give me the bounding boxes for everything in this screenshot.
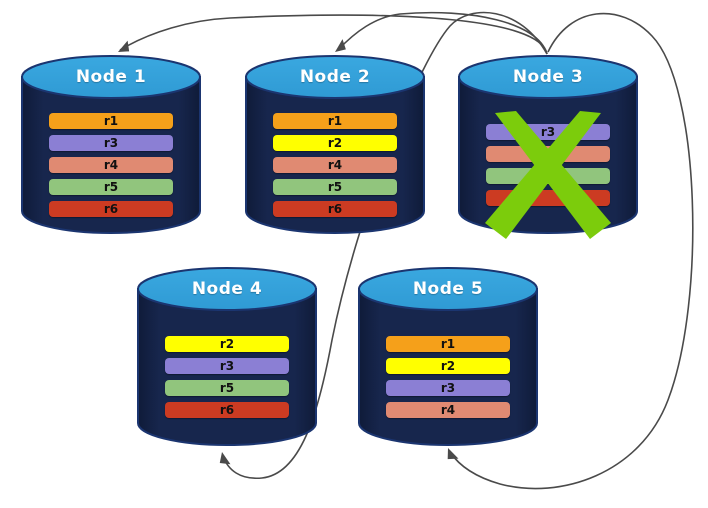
node-row-list: r1r3r4r5r6 (21, 113, 201, 223)
node-row-list: r1r2r4r5r6 (245, 113, 425, 223)
data-row-r1[interactable]: r1 (49, 113, 173, 129)
database-node-1[interactable]: Node 1r1r3r4r5r6 (21, 55, 201, 233)
data-row-r6[interactable]: r6 (49, 201, 173, 217)
node-row-list: r2r3r5r6 (137, 336, 317, 424)
node-title: Node 4 (137, 279, 317, 299)
data-row-r2[interactable]: r2 (386, 358, 510, 374)
data-row-r4[interactable]: r4 (49, 157, 173, 173)
database-node-2[interactable]: Node 2r1r2r4r5r6 (245, 55, 425, 233)
data-row-r4[interactable]: r4 (386, 402, 510, 418)
replication-diagram: Node 1r1r3r4r5r6Node 2r1r2r4r5r6Node 3r3… (0, 0, 708, 508)
arrow-head (332, 39, 349, 56)
database-node-5[interactable]: Node 5r1r2r3r4 (358, 267, 538, 445)
node-row-list: r3 (458, 124, 638, 212)
node-title: Node 3 (458, 67, 638, 87)
node-title: Node 5 (358, 279, 538, 299)
data-row-r3[interactable]: r3 (49, 135, 173, 151)
data-row-r3[interactable]: r3 (386, 380, 510, 396)
node-row-list: r1r2r3r4 (358, 336, 538, 424)
arrow-head (217, 451, 230, 467)
data-row-r1[interactable]: r1 (386, 336, 510, 352)
data-row-r3[interactable]: r3 (486, 124, 610, 140)
data-row-r1[interactable]: r1 (273, 113, 397, 129)
data-row-r6[interactable] (486, 190, 610, 206)
data-row-r2[interactable]: r2 (165, 336, 289, 352)
data-row-r6[interactable]: r6 (165, 402, 289, 418)
arrow-path (120, 15, 547, 54)
data-row-r6[interactable]: r6 (273, 201, 397, 217)
data-row-r4[interactable]: r4 (273, 157, 397, 173)
data-row-r5[interactable] (486, 168, 610, 184)
arrow-node3-to-node1 (116, 15, 548, 56)
database-node-3[interactable]: Node 3r3 (458, 55, 638, 233)
data-row-r3[interactable]: r3 (165, 358, 289, 374)
data-row-r5[interactable]: r5 (273, 179, 397, 195)
data-row-r2[interactable]: r2 (273, 135, 397, 151)
arrow-path (338, 13, 547, 54)
database-node-4[interactable]: Node 4r2r3r5r6 (137, 267, 317, 445)
data-row-r4[interactable] (486, 146, 610, 162)
arrow-node3-to-node2 (332, 13, 547, 56)
node-title: Node 1 (21, 67, 201, 87)
node-title: Node 2 (245, 67, 425, 87)
arrow-head (443, 446, 458, 463)
data-row-r5[interactable]: r5 (165, 380, 289, 396)
arrow-head (116, 41, 133, 57)
data-row-r5[interactable]: r5 (49, 179, 173, 195)
